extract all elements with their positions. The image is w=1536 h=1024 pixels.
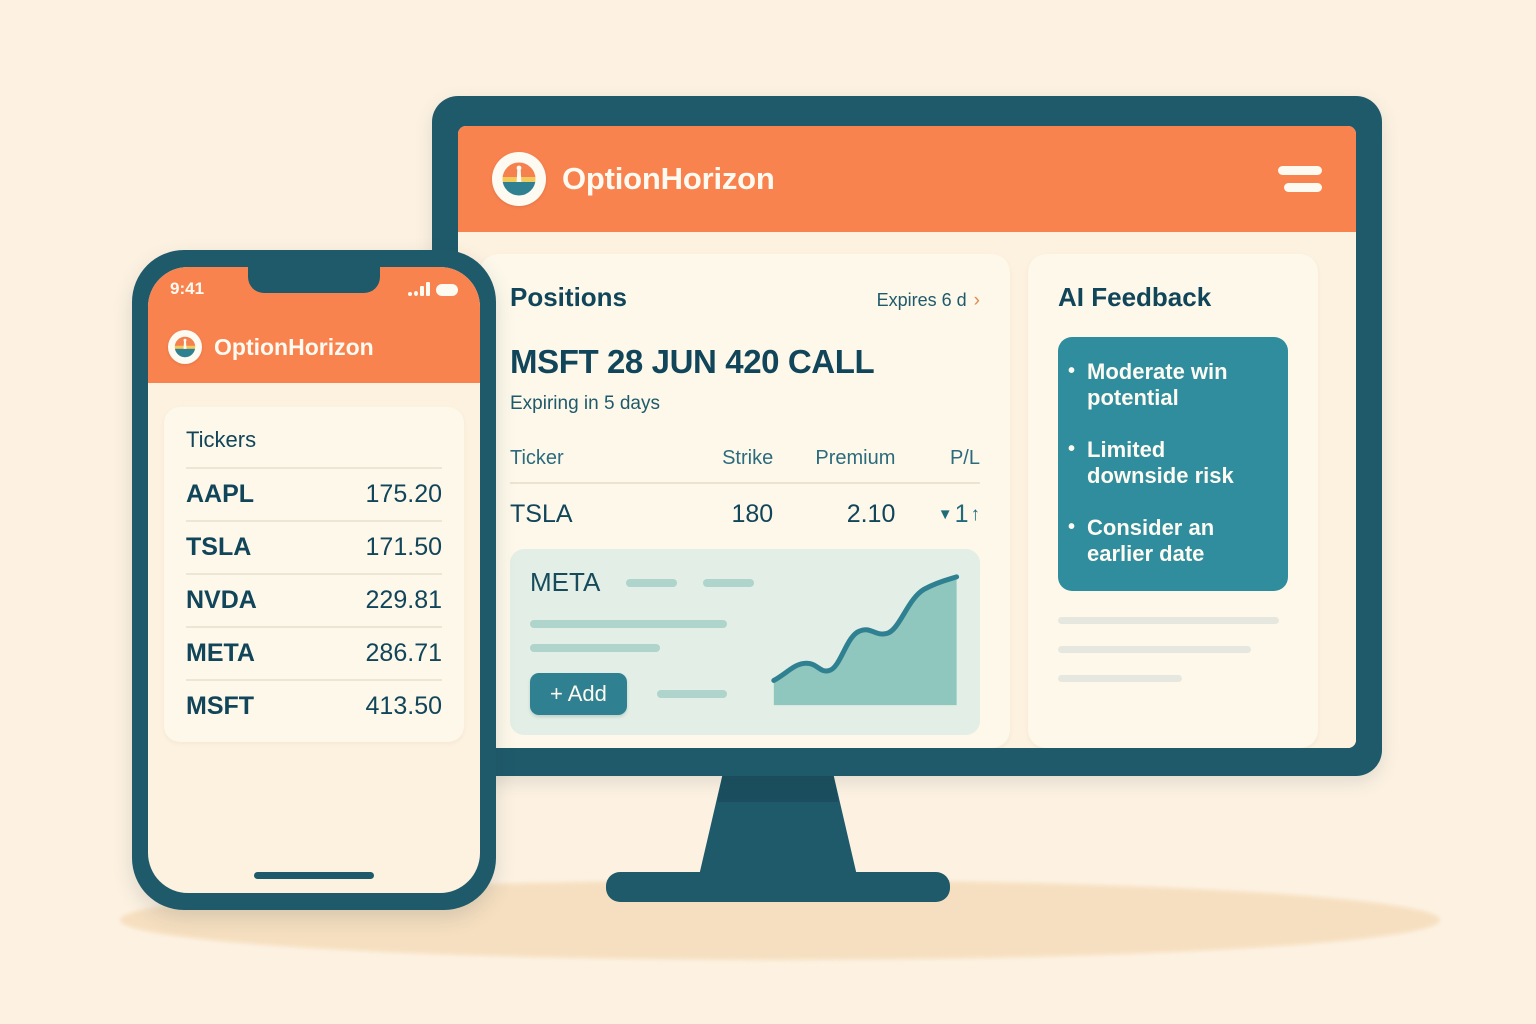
ai-feedback-item: • Consider an earlier date bbox=[1068, 515, 1270, 567]
ai-feedback-item-text: Consider an earlier date bbox=[1087, 515, 1270, 567]
cell-strike: 180 bbox=[679, 484, 773, 537]
phone-content: Tickers AAPL 175.20 TSLA 171.50 NVDA 229… bbox=[148, 383, 480, 766]
ticker-price: 413.50 bbox=[366, 692, 442, 721]
ticker-symbol: META bbox=[186, 639, 255, 668]
desktop-monitor: OptionHorizon Positions Expires 6 d › MS… bbox=[432, 96, 1382, 776]
arrow-up-icon: ↑ bbox=[970, 504, 980, 526]
skeleton-bar bbox=[626, 579, 677, 587]
column-header-strike: Strike bbox=[679, 447, 773, 482]
positions-title: Positions bbox=[510, 282, 627, 313]
ai-feedback-title: AI Feedback bbox=[1058, 282, 1288, 313]
cell-ticker: TSLA bbox=[510, 484, 679, 537]
ai-feedback-item: • Limited downside risk bbox=[1068, 437, 1270, 489]
ai-feedback-item: • Moderate win potential bbox=[1068, 359, 1270, 411]
ai-feedback-panel: AI Feedback • Moderate win potential • L… bbox=[1028, 254, 1318, 748]
list-item[interactable]: MSFT 413.50 bbox=[186, 679, 442, 732]
ai-skeleton-group bbox=[1058, 617, 1288, 682]
cell-premium: 2.10 bbox=[773, 484, 895, 537]
cell-pl: ▼ 1 ↑ bbox=[895, 484, 980, 537]
meta-chart-card[interactable]: META + Add bbox=[510, 549, 980, 735]
monitor-stand-base bbox=[606, 872, 950, 902]
status-icons bbox=[408, 282, 458, 296]
desktop-topbar: OptionHorizon bbox=[458, 126, 1356, 232]
battery-icon bbox=[436, 284, 458, 296]
skeleton-bar bbox=[1058, 646, 1251, 653]
hamburger-menu-icon[interactable] bbox=[1278, 166, 1322, 192]
lighthouse-sunset-logo-icon bbox=[168, 330, 202, 364]
hamburger-bar-1 bbox=[1278, 166, 1322, 175]
table-header-row: Ticker Strike Premium P/L bbox=[510, 447, 980, 484]
skeleton-bar bbox=[1058, 675, 1182, 682]
meta-card-left: META + Add bbox=[530, 567, 754, 715]
column-header-pl: P/L bbox=[895, 447, 980, 482]
list-item[interactable]: AAPL 175.20 bbox=[186, 467, 442, 520]
list-item[interactable]: META 286.71 bbox=[186, 626, 442, 679]
bullet-icon: • bbox=[1068, 359, 1075, 411]
meta-label: META bbox=[530, 567, 600, 598]
desktop-body: Positions Expires 6 d › MSFT 28 JUN 420 … bbox=[458, 232, 1356, 748]
skeleton-bar bbox=[703, 579, 754, 587]
expires-link[interactable]: Expires 6 d › bbox=[877, 290, 980, 311]
skeleton-bar bbox=[530, 620, 727, 628]
add-button[interactable]: + Add bbox=[530, 673, 627, 715]
skeleton-bar bbox=[1058, 617, 1279, 624]
ticker-symbol: MSFT bbox=[186, 692, 254, 721]
ticker-price: 286.71 bbox=[366, 639, 442, 668]
meta-add-row: + Add bbox=[530, 673, 754, 715]
positions-panel: Positions Expires 6 d › MSFT 28 JUN 420 … bbox=[480, 254, 1010, 748]
chevron-right-icon: › bbox=[974, 291, 980, 310]
ai-feedback-item-text: Limited downside risk bbox=[1087, 437, 1270, 489]
ticker-symbol: TSLA bbox=[186, 533, 251, 562]
tickers-title: Tickers bbox=[186, 427, 442, 467]
meta-area-chart bbox=[770, 567, 960, 715]
desktop-brand: OptionHorizon bbox=[492, 152, 775, 206]
list-item[interactable]: TSLA 171.50 bbox=[186, 520, 442, 573]
positions-table: Ticker Strike Premium P/L TSLA 180 2.10 … bbox=[510, 447, 980, 537]
mobile-phone: 9:41 OptionH bbox=[132, 250, 496, 910]
column-header-ticker: Ticker bbox=[510, 447, 679, 482]
desktop-screen: OptionHorizon Positions Expires 6 d › MS… bbox=[458, 126, 1356, 748]
ticker-price: 175.20 bbox=[366, 480, 442, 509]
skeleton-bar bbox=[657, 690, 727, 698]
ticker-symbol: AAPL bbox=[186, 480, 254, 509]
triangle-down-icon: ▼ bbox=[938, 506, 953, 523]
phone-notch bbox=[248, 267, 380, 293]
ai-feedback-item-text: Moderate win potential bbox=[1087, 359, 1270, 411]
phone-appbar: OptionHorizon bbox=[148, 311, 480, 383]
status-time: 9:41 bbox=[170, 279, 204, 299]
home-indicator bbox=[254, 872, 374, 879]
column-header-premium: Premium bbox=[773, 447, 895, 482]
contract-subtitle: Expiring in 5 days bbox=[510, 393, 980, 415]
bullet-icon: • bbox=[1068, 515, 1075, 567]
positions-header: Positions Expires 6 d › bbox=[510, 282, 980, 313]
table-row[interactable]: TSLA 180 2.10 ▼ 1 ↑ bbox=[510, 484, 980, 537]
tickers-card: Tickers AAPL 175.20 TSLA 171.50 NVDA 229… bbox=[164, 407, 464, 742]
phone-brand-name: OptionHorizon bbox=[214, 334, 374, 361]
ticker-price: 171.50 bbox=[366, 533, 442, 562]
bullet-icon: • bbox=[1068, 437, 1075, 489]
pl-value: 1 bbox=[955, 500, 969, 529]
hamburger-bar-2 bbox=[1284, 183, 1322, 192]
phone-screen: 9:41 OptionH bbox=[148, 267, 480, 893]
ticker-price: 229.81 bbox=[366, 586, 442, 615]
skeleton-bar bbox=[530, 644, 660, 652]
contract-title: MSFT 28 JUN 420 CALL bbox=[510, 343, 980, 381]
desktop-brand-name: OptionHorizon bbox=[562, 161, 775, 197]
expires-label: Expires 6 d bbox=[877, 290, 967, 311]
ticker-symbol: NVDA bbox=[186, 586, 257, 615]
meta-card-top-row: META bbox=[530, 567, 754, 598]
list-item[interactable]: NVDA 229.81 bbox=[186, 573, 442, 626]
ai-feedback-list: • Moderate win potential • Limited downs… bbox=[1068, 359, 1270, 567]
pl-indicator: ▼ 1 ↑ bbox=[895, 500, 980, 529]
signal-bars-icon bbox=[408, 282, 430, 296]
lighthouse-sunset-logo-icon bbox=[492, 152, 546, 206]
ai-feedback-card: • Moderate win potential • Limited downs… bbox=[1058, 337, 1288, 591]
